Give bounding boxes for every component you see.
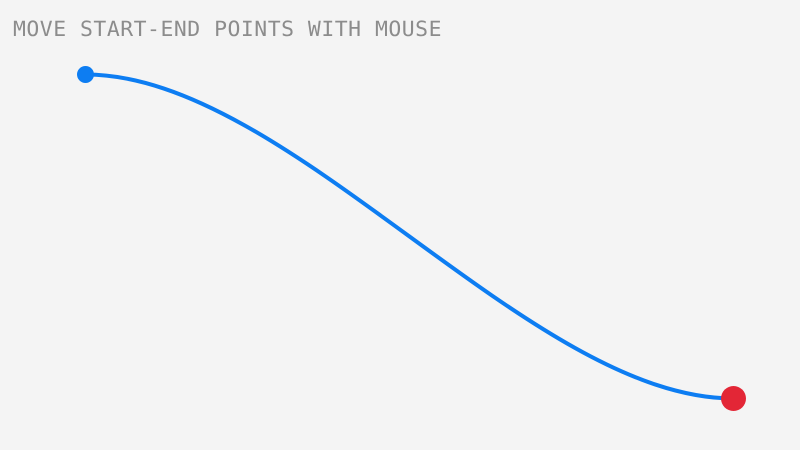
bezier-stage[interactable] xyxy=(0,0,800,450)
bezier-curve xyxy=(86,75,734,399)
end-point-handle[interactable] xyxy=(721,386,746,411)
bezier-svg xyxy=(0,0,800,450)
start-point-handle[interactable] xyxy=(77,66,94,83)
bezier-demo-canvas: MOVE START-END POINTS WITH MOUSE xyxy=(0,0,800,450)
